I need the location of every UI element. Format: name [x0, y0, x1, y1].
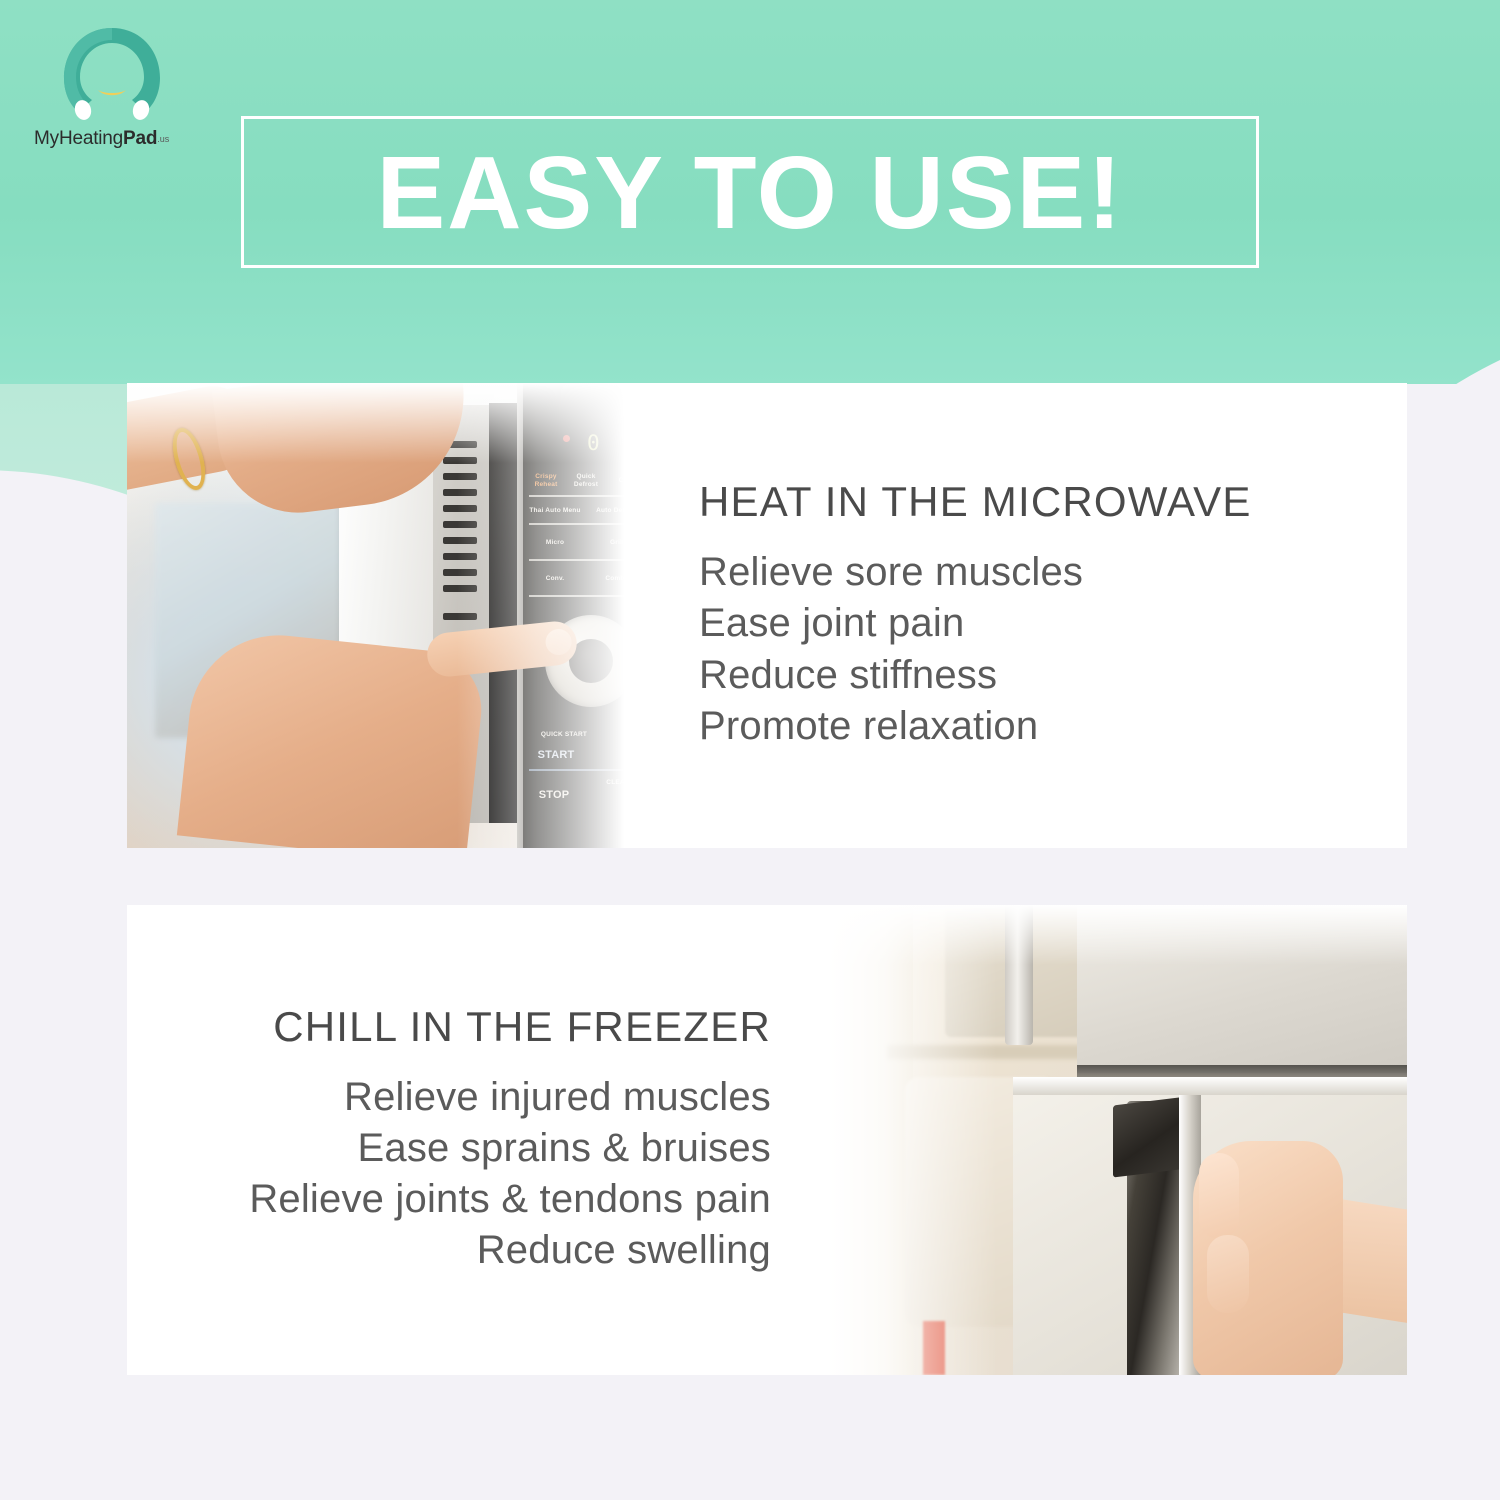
list-item: Ease sprains & bruises	[249, 1123, 771, 1174]
brand-word-pad: Pad	[123, 128, 157, 149]
benefit-list-chill: Relieve injured muscles Ease sprains & b…	[249, 1072, 771, 1277]
heat-copy-block: HEAT IN THE MICROWAVE Relieve sore muscl…	[647, 383, 1407, 848]
list-item: Relieve sore muscles	[699, 547, 1083, 598]
brand-word-my: My	[34, 128, 59, 149]
page-title: EASY TO USE!	[376, 141, 1123, 244]
neck-wrap-ring-icon	[52, 22, 172, 122]
section-title-chill: CHILL IN THE FREEZER	[273, 1004, 771, 1050]
list-item: Promote relaxation	[699, 701, 1083, 752]
freezer-photo	[827, 905, 1407, 1375]
brand-wordmark: MyHeatingPad.us	[34, 128, 218, 150]
list-item: Reduce stiffness	[699, 650, 1083, 701]
brand-word-tld: .us	[157, 134, 169, 144]
list-item: Relieve joints & tendons pain	[249, 1174, 771, 1225]
section-card-heat: 0 Crispy Reheat Quick Defrost Clock Thai…	[127, 383, 1407, 848]
microwave-photo: 0 Crispy Reheat Quick Defrost Clock Thai…	[127, 383, 647, 848]
list-item: Reduce swelling	[249, 1225, 771, 1276]
chill-copy-block: CHILL IN THE FREEZER Relieve injured mus…	[127, 905, 827, 1375]
brand-logo: MyHeatingPad.us	[18, 22, 218, 150]
section-title-heat: HEAT IN THE MICROWAVE	[699, 479, 1252, 525]
headline-frame: EASY TO USE!	[241, 116, 1259, 268]
benefit-list-heat: Relieve sore muscles Ease joint pain Red…	[699, 547, 1083, 752]
list-item: Relieve injured muscles	[249, 1072, 771, 1123]
section-card-chill: CHILL IN THE FREEZER Relieve injured mus…	[127, 905, 1407, 1375]
infographic-canvas: MyHeatingPad.us EASY TO USE!	[0, 0, 1500, 1500]
brand-word-heating: Heating	[59, 128, 123, 149]
list-item: Ease joint pain	[699, 598, 1083, 649]
